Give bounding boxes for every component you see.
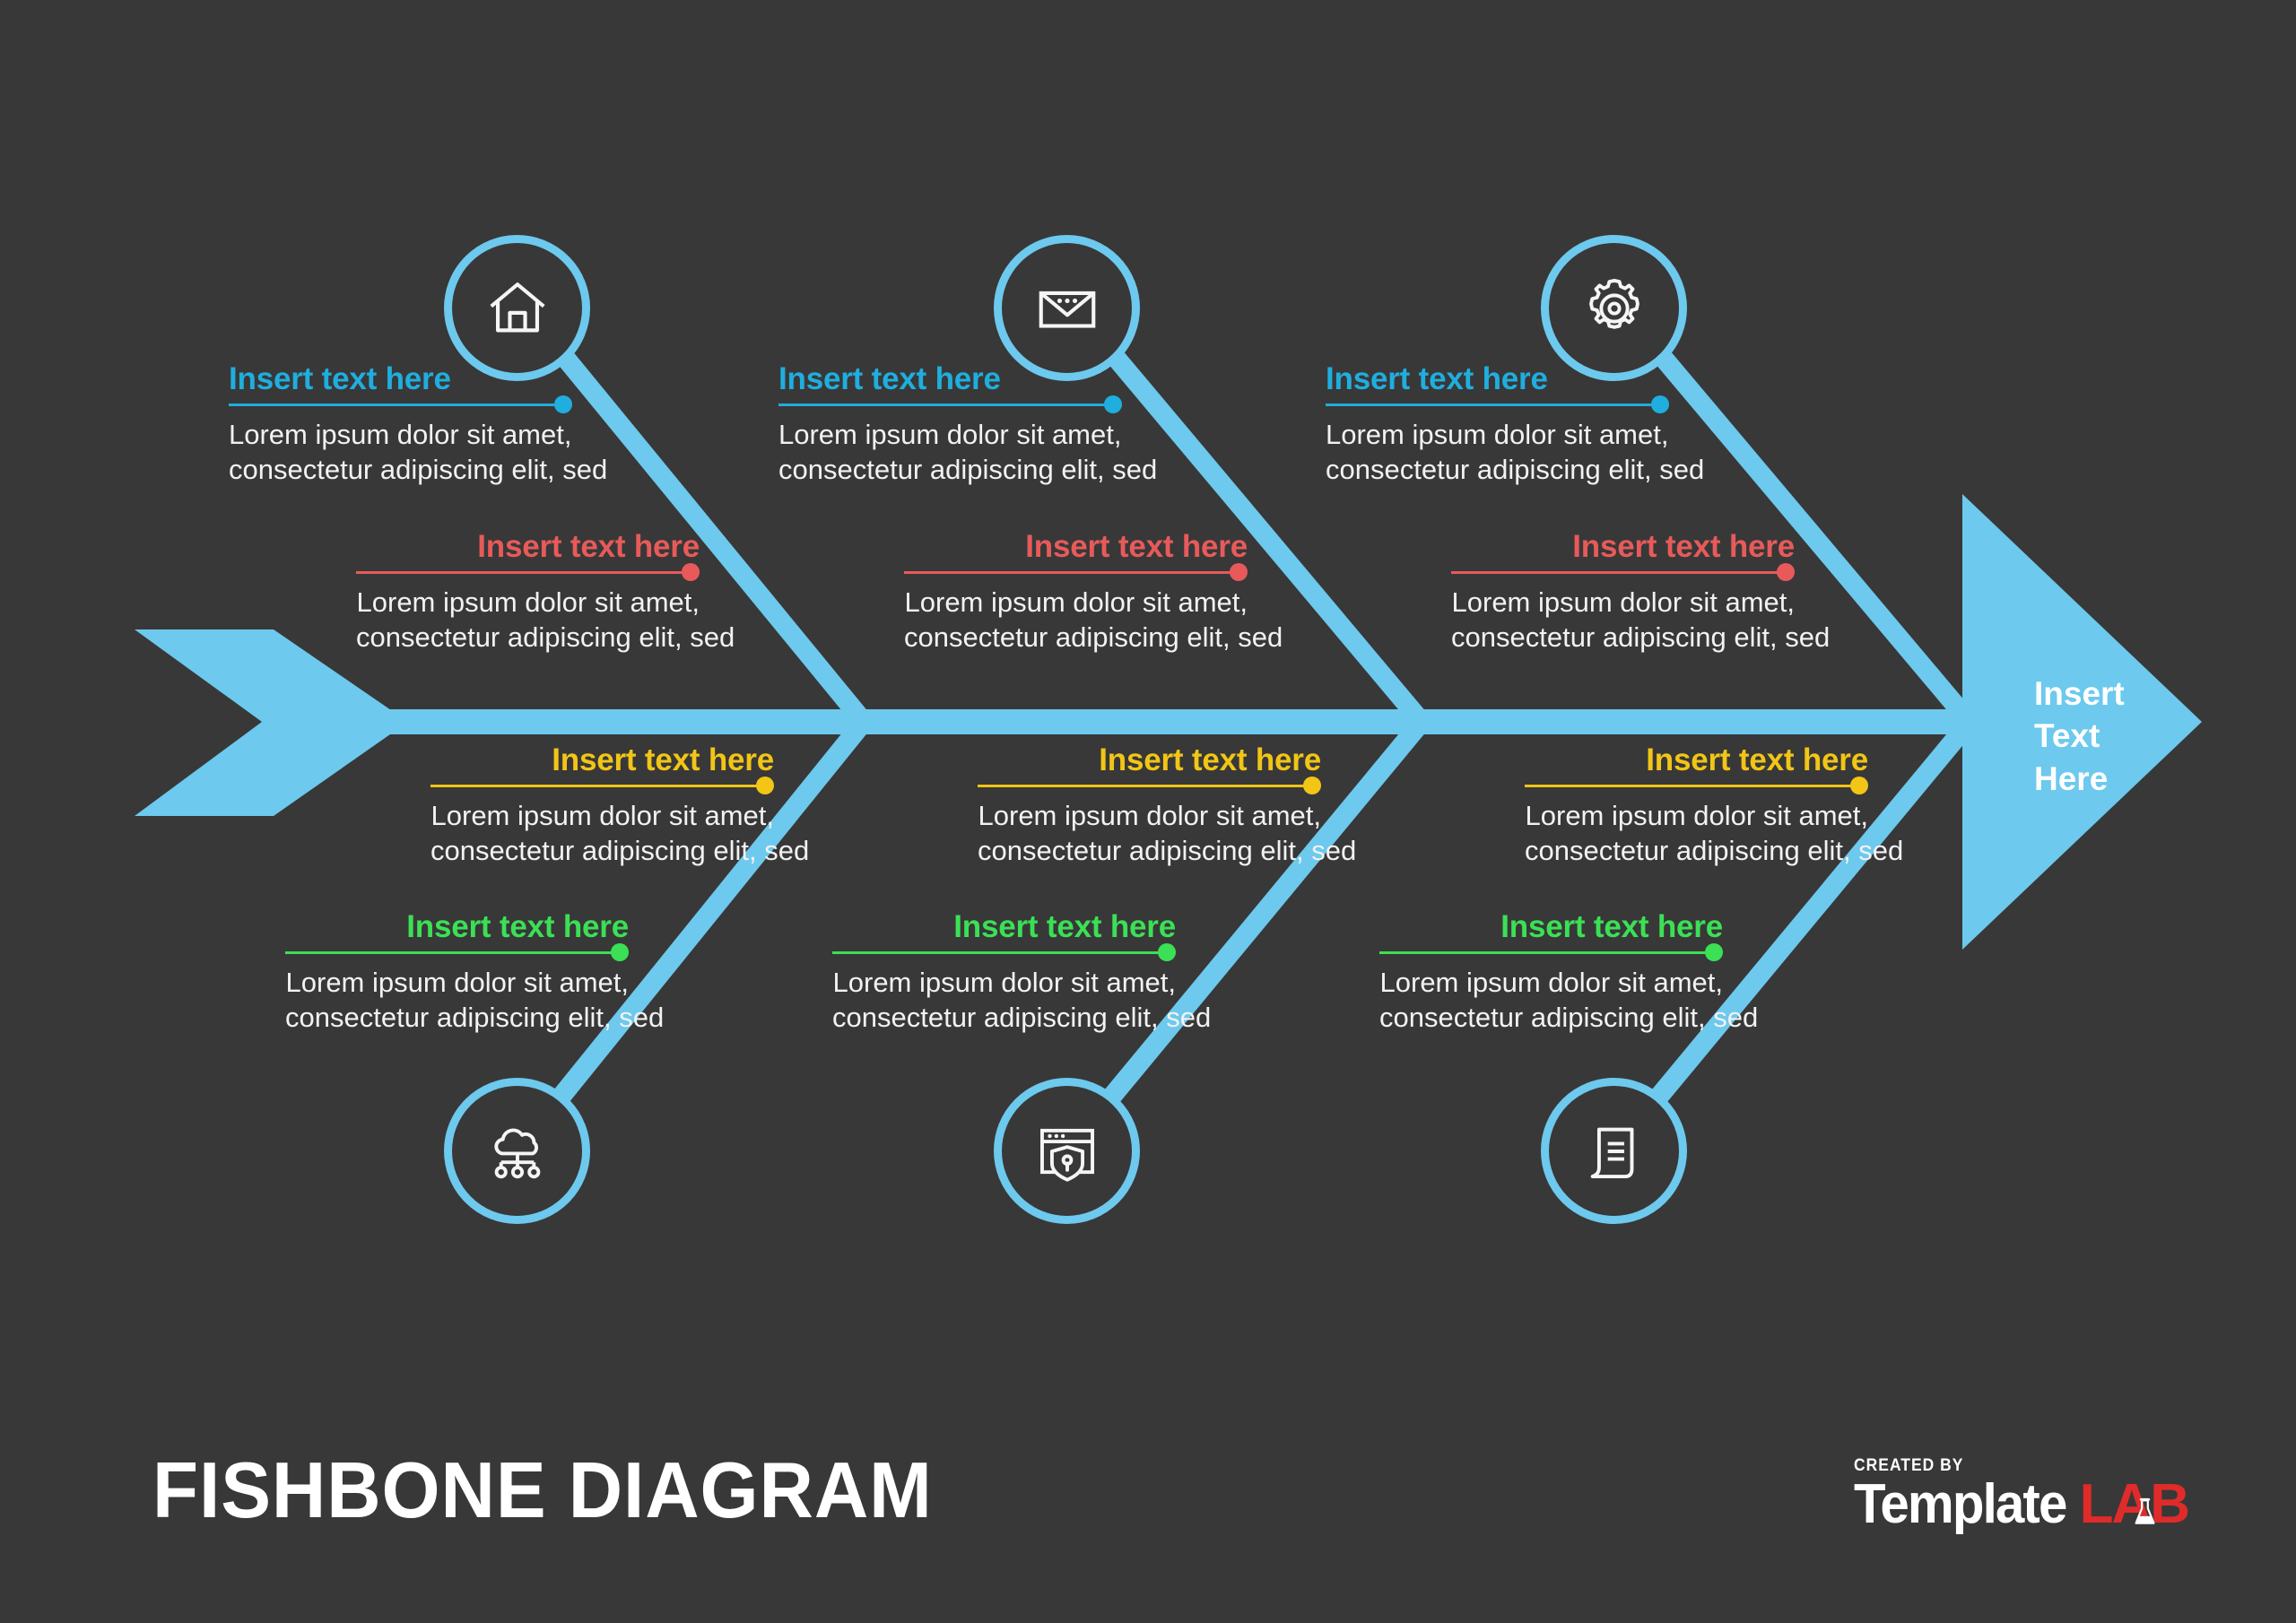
branch-lower-1-col-2[interactable]: Insert text here Lorem ipsum dolor sit a…: [978, 744, 1321, 869]
effect-label-line-1: Insert: [2034, 673, 2196, 715]
branch-heading: Insert text here: [778, 363, 1122, 396]
branch-rule: [229, 403, 572, 406]
cloud-network-icon-node[interactable]: [444, 1078, 590, 1224]
branch-body: Lorem ipsum dolor sit amet,consectetur a…: [430, 798, 774, 869]
branch-body: Lorem ipsum dolor sit amet,consectetur a…: [1525, 798, 1868, 869]
branch-body: Lorem ipsum dolor sit amet,consectetur a…: [229, 417, 572, 488]
browser-shield-icon: [1032, 1116, 1102, 1186]
branch-heading: Insert text here: [1451, 531, 1795, 564]
branch-heading: Insert text here: [356, 531, 700, 564]
envelope-icon: [1032, 273, 1102, 343]
cloud-network-icon: [483, 1116, 552, 1186]
branch-upper-2-col-1[interactable]: Insert text here Lorem ipsum dolor sit a…: [356, 531, 700, 655]
branch-heading: Insert text here: [978, 744, 1321, 777]
branch-body: Lorem ipsum dolor sit amet,consectetur a…: [778, 417, 1122, 488]
document-icon: [1579, 1116, 1649, 1186]
branch-heading: Insert text here: [904, 531, 1248, 564]
effect-label-line-2: Text: [2034, 715, 2196, 757]
bone-upper-3: [1622, 309, 1970, 722]
flask-icon: [2133, 1497, 2157, 1527]
effect-label-line-3: Here: [2034, 758, 2196, 800]
brand-name-template: Template: [1854, 1477, 2066, 1532]
branch-rule: [904, 570, 1248, 574]
branch-rule: [832, 950, 1176, 954]
branch-upper-2-col-3[interactable]: Insert text here Lorem ipsum dolor sit a…: [1451, 531, 1795, 655]
branch-rule: [1451, 570, 1795, 574]
branch-rule: [1326, 403, 1669, 406]
page-title: FISHBONE DIAGRAM: [152, 1445, 933, 1536]
branch-lower-2-col-1[interactable]: Insert text here Lorem ipsum dolor sit a…: [285, 911, 629, 1036]
branch-body: Lorem ipsum dolor sit amet,consectetur a…: [1326, 417, 1669, 488]
branch-heading: Insert text here: [832, 911, 1176, 944]
branch-lower-2-col-2[interactable]: Insert text here Lorem ipsum dolor sit a…: [832, 911, 1176, 1036]
branch-heading: Insert text here: [1326, 363, 1669, 396]
branch-lower-1-col-3[interactable]: Insert text here Lorem ipsum dolor sit a…: [1525, 744, 1868, 869]
brand-logo[interactable]: CREATED BY Template LAB: [1854, 1456, 2188, 1532]
branch-heading: Insert text here: [1379, 911, 1723, 944]
branch-heading: Insert text here: [229, 363, 572, 396]
branch-upper-2-col-2[interactable]: Insert text here Lorem ipsum dolor sit a…: [904, 531, 1248, 655]
envelope-icon-node[interactable]: [994, 235, 1140, 381]
branch-body: Lorem ipsum dolor sit amet,consectetur a…: [978, 798, 1321, 869]
browser-shield-icon-node[interactable]: [994, 1078, 1140, 1224]
branch-rule: [285, 950, 629, 954]
branch-lower-1-col-1[interactable]: Insert text here Lorem ipsum dolor sit a…: [430, 744, 774, 869]
gear-icon-node[interactable]: [1541, 235, 1687, 381]
gear-icon: [1579, 273, 1649, 343]
branch-rule: [1379, 950, 1723, 954]
branch-rule: [1525, 784, 1868, 787]
brand-name-lab: LAB: [2080, 1477, 2188, 1532]
fish-spine: [262, 709, 1984, 734]
branch-body: Lorem ipsum dolor sit amet,consectetur a…: [285, 965, 629, 1036]
branch-rule: [356, 570, 700, 574]
branch-lower-2-col-3[interactable]: Insert text here Lorem ipsum dolor sit a…: [1379, 911, 1723, 1036]
effect-label[interactable]: Insert Text Here: [2034, 673, 2196, 800]
document-icon-node[interactable]: [1541, 1078, 1687, 1224]
branch-upper-1-col-2[interactable]: Insert text here Lorem ipsum dolor sit a…: [778, 363, 1122, 488]
branch-body: Lorem ipsum dolor sit amet,consectetur a…: [832, 965, 1176, 1036]
branch-body: Lorem ipsum dolor sit amet,consectetur a…: [356, 585, 700, 655]
branch-upper-1-col-3[interactable]: Insert text here Lorem ipsum dolor sit a…: [1326, 363, 1669, 488]
brand-wordmark: Template LAB: [1854, 1477, 2188, 1532]
branch-rule: [430, 784, 774, 787]
branch-rule: [778, 403, 1122, 406]
branch-heading: Insert text here: [285, 911, 629, 944]
branch-rule: [978, 784, 1321, 787]
home-icon-node[interactable]: [444, 235, 590, 381]
branch-body: Lorem ipsum dolor sit amet,consectetur a…: [1451, 585, 1795, 655]
home-icon: [483, 273, 552, 343]
branch-upper-1-col-1[interactable]: Insert text here Lorem ipsum dolor sit a…: [229, 363, 572, 488]
branch-body: Lorem ipsum dolor sit amet,consectetur a…: [904, 585, 1248, 655]
branch-body: Lorem ipsum dolor sit amet,consectetur a…: [1379, 965, 1723, 1036]
fishbone-canvas: Insert text here Lorem ipsum dolor sit a…: [0, 0, 2296, 1623]
branch-heading: Insert text here: [430, 744, 774, 777]
branch-heading: Insert text here: [1525, 744, 1868, 777]
